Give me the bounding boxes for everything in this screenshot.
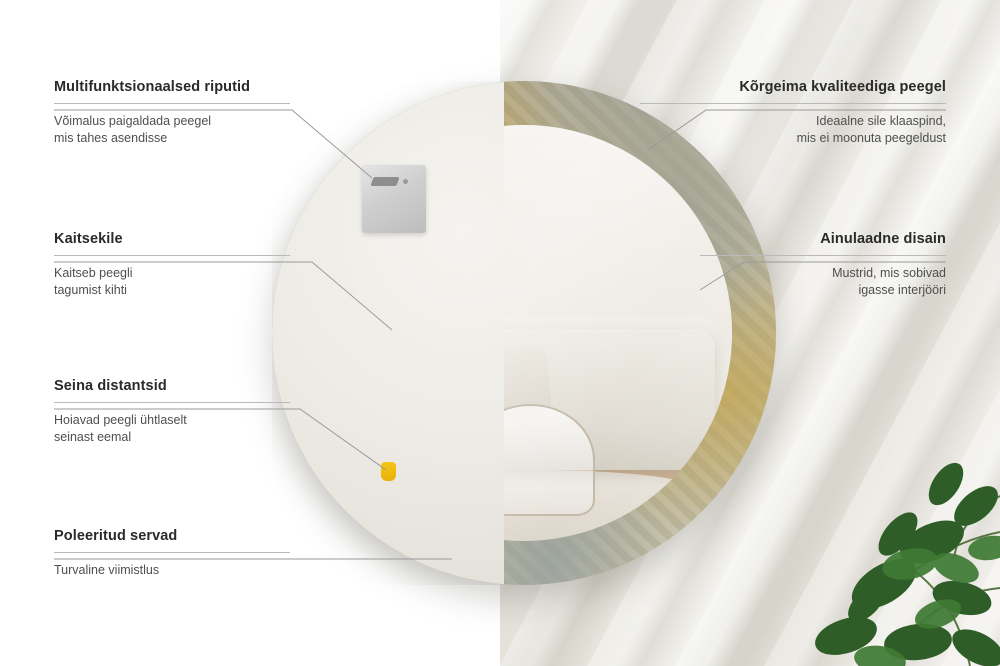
wall-spacer: [381, 462, 396, 481]
callout-title: Seina distantsid: [54, 378, 290, 394]
callout-protective-film: Kaitsekile Kaitseb peegli tagumist kihti: [54, 231, 290, 299]
product-feature-infographic: Multifunktsionaalsed riputid Võimalus pa…: [0, 0, 1000, 666]
callout-divider: [54, 103, 290, 104]
hanger-slot-icon: [370, 177, 399, 186]
callout-description: Võimalus paigaldada peegel mis tahes ase…: [54, 113, 290, 147]
callout-wall-spacers: Seina distantsid Hoiavad peegli ühtlasel…: [54, 378, 290, 446]
plant-foliage: [670, 336, 1000, 666]
callout-divider: [700, 255, 946, 256]
callout-title: Multifunktsionaalsed riputid: [54, 79, 290, 95]
callout-title: Kaitsekile: [54, 231, 290, 247]
callout-description: Hoiavad peegli ühtlaselt seinast eemal: [54, 412, 290, 446]
callout-unique-design: Ainulaadne disain Mustrid, mis sobivad i…: [700, 231, 946, 299]
callout-description: Turvaline viimistlus: [54, 562, 290, 579]
callout-divider: [640, 103, 946, 104]
callout-description: Mustrid, mis sobivad igasse interjööri: [700, 265, 946, 299]
callout-title: Poleeritud servad: [54, 528, 290, 544]
callout-multifunctional-hangers: Multifunktsionaalsed riputid Võimalus pa…: [54, 79, 290, 147]
callout-description: Kaitseb peegli tagumist kihti: [54, 265, 290, 299]
callout-divider: [54, 552, 290, 553]
callout-description: Ideaalne sile klaaspind, mis ei moonuta …: [640, 113, 946, 147]
callout-title: Ainulaadne disain: [700, 231, 946, 247]
hanger-screw-dot-icon: [403, 179, 408, 184]
callout-title: Kõrgeima kvaliteediga peegel: [640, 79, 946, 95]
callout-divider: [54, 402, 290, 403]
callout-polished-edges: Poleeritud servad Turvaline viimistlus: [54, 528, 290, 579]
callout-highest-quality-mirror: Kõrgeima kvaliteediga peegel Ideaalne si…: [640, 79, 946, 147]
callout-divider: [54, 255, 290, 256]
hanger-plate: [362, 165, 426, 233]
